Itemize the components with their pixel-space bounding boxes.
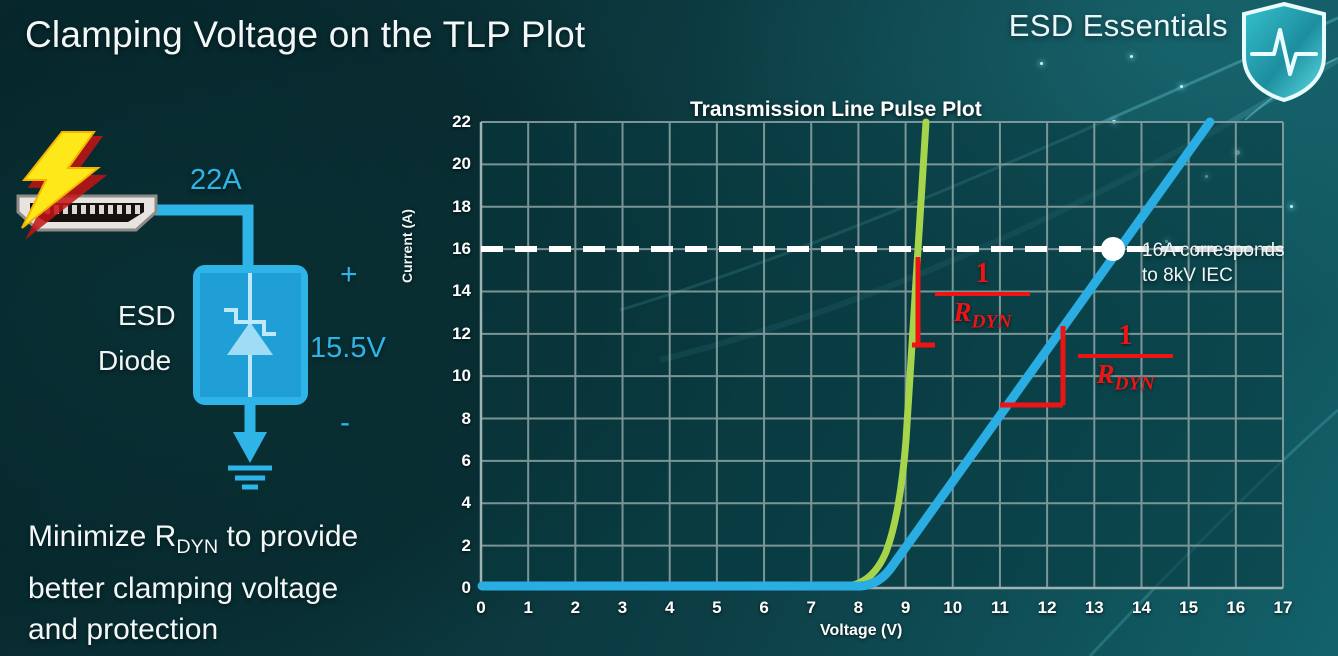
slope-formula-low-rdyn: 1 RDYN: [935, 258, 1030, 333]
slope-numerator: 1: [1078, 320, 1173, 352]
x-tick-label: 9: [901, 598, 910, 618]
y-tick-label: 8: [433, 409, 471, 429]
y-tick-label: 12: [433, 324, 471, 344]
x-tick-label: 1: [523, 598, 532, 618]
fraction-bar: [935, 292, 1030, 296]
y-tick-label: 0: [433, 578, 471, 598]
y-tick-label: 4: [433, 493, 471, 513]
x-tick-label: 12: [1038, 598, 1057, 618]
x-tick-label: 10: [943, 598, 962, 618]
y-tick-label: 20: [433, 154, 471, 174]
x-tick-label: 0: [476, 598, 485, 618]
x-tick-label: 14: [1132, 598, 1151, 618]
x-tick-label: 8: [854, 598, 863, 618]
y-tick-label: 10: [433, 366, 471, 386]
x-tick-label: 2: [571, 598, 580, 618]
data-point-marker-icon: [1101, 237, 1125, 261]
tlp-chart: Transmission Line Pulse Plot Current (A)…: [0, 0, 1338, 656]
x-tick-label: 16: [1226, 598, 1245, 618]
x-tick-label: 6: [759, 598, 768, 618]
y-tick-label: 6: [433, 451, 471, 471]
x-tick-label: 7: [807, 598, 816, 618]
x-tick-label: 13: [1085, 598, 1104, 618]
y-tick-label: 14: [433, 281, 471, 301]
fraction-bar: [1078, 354, 1173, 358]
x-tick-label: 17: [1274, 598, 1293, 618]
slope-denominator: RDYN: [935, 297, 1030, 333]
callout-line1: 16A corresponds: [1142, 238, 1338, 263]
slope-denominator: RDYN: [1078, 359, 1173, 395]
callout-line2: to 8kV IEC: [1142, 263, 1338, 288]
x-tick-label: 5: [712, 598, 721, 618]
y-tick-label: 16: [433, 239, 471, 259]
x-tick-label: 11: [991, 598, 1009, 618]
x-tick-label: 15: [1179, 598, 1198, 618]
y-tick-label: 2: [433, 536, 471, 556]
y-tick-label: 22: [433, 112, 471, 132]
x-tick-label: 4: [665, 598, 674, 618]
slope-numerator: 1: [935, 258, 1030, 290]
slope-formula-high-rdyn: 1 RDYN: [1078, 320, 1173, 395]
y-tick-label: 18: [433, 197, 471, 217]
x-tick-label: 3: [618, 598, 627, 618]
callout-16a: 16A corresponds to 8kV IEC: [1142, 238, 1338, 288]
slide-root: Clamping Voltage on the TLP Plot ESD Ess…: [0, 0, 1338, 656]
